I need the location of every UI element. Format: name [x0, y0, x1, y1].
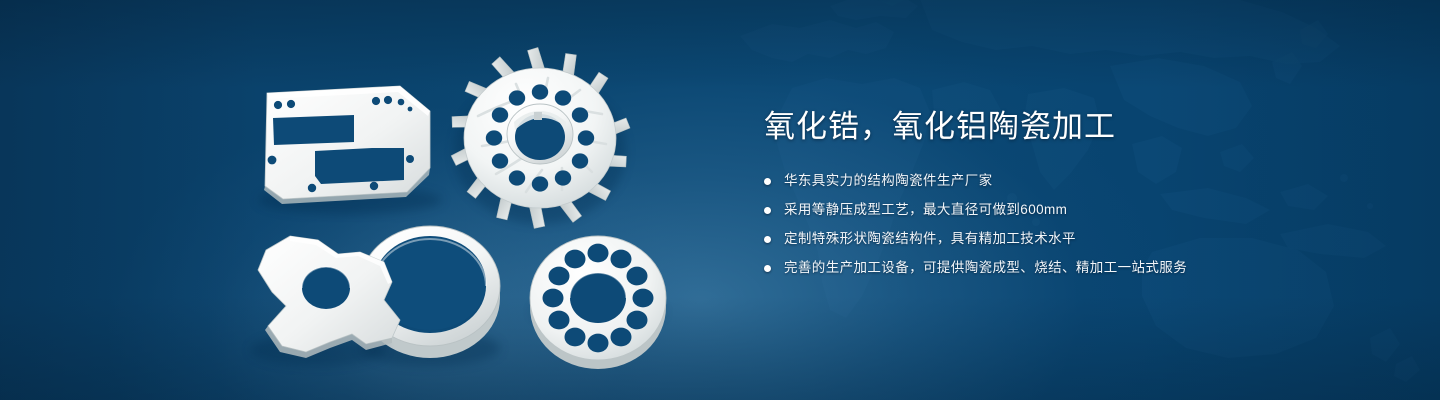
- bullet-dot-icon: [764, 236, 771, 243]
- ceramic-perforated-disc-shape: [530, 236, 666, 369]
- bullet-dot-icon: [764, 207, 771, 214]
- bullet-dot-icon: [764, 265, 771, 272]
- feature-list: 华东具实力的结构陶瓷件生产厂家 采用等静压成型工艺，最大直径可做到600mm 定…: [764, 171, 1384, 279]
- list-item: 采用等静压成型工艺，最大直径可做到600mm: [764, 200, 1384, 221]
- list-item: 华东具实力的结构陶瓷件生产厂家: [764, 171, 1384, 192]
- feature-text: 华东具实力的结构陶瓷件生产厂家: [784, 171, 993, 191]
- hero-banner: 氧化锆，氧化铝陶瓷加工 华东具实力的结构陶瓷件生产厂家 采用等静压成型工艺，最大…: [0, 0, 1440, 400]
- feature-text: 采用等静压成型工艺，最大直径可做到600mm: [784, 200, 1067, 220]
- list-item: 定制特殊形状陶瓷结构件，具有精加工技术水平: [764, 229, 1384, 250]
- list-item: 完善的生产加工设备，可提供陶瓷成型、烧结、精加工一站式服务: [764, 258, 1384, 279]
- feature-text: 完善的生产加工设备，可提供陶瓷成型、烧结、精加工一站式服务: [784, 258, 1187, 278]
- ceramic-machined-plate-shape: [258, 86, 442, 214]
- bullet-dot-icon: [764, 178, 771, 185]
- feature-text: 定制特殊形状陶瓷结构件，具有精加工技术水平: [784, 229, 1076, 249]
- page-title: 氧化锆，氧化铝陶瓷加工: [764, 108, 1384, 147]
- ceramic-impeller-shape: [449, 47, 630, 231]
- banner-copy: 氧化锆，氧化铝陶瓷加工 华东具实力的结构陶瓷件生产厂家 采用等静压成型工艺，最大…: [764, 108, 1384, 287]
- product-photo-group: [0, 0, 720, 400]
